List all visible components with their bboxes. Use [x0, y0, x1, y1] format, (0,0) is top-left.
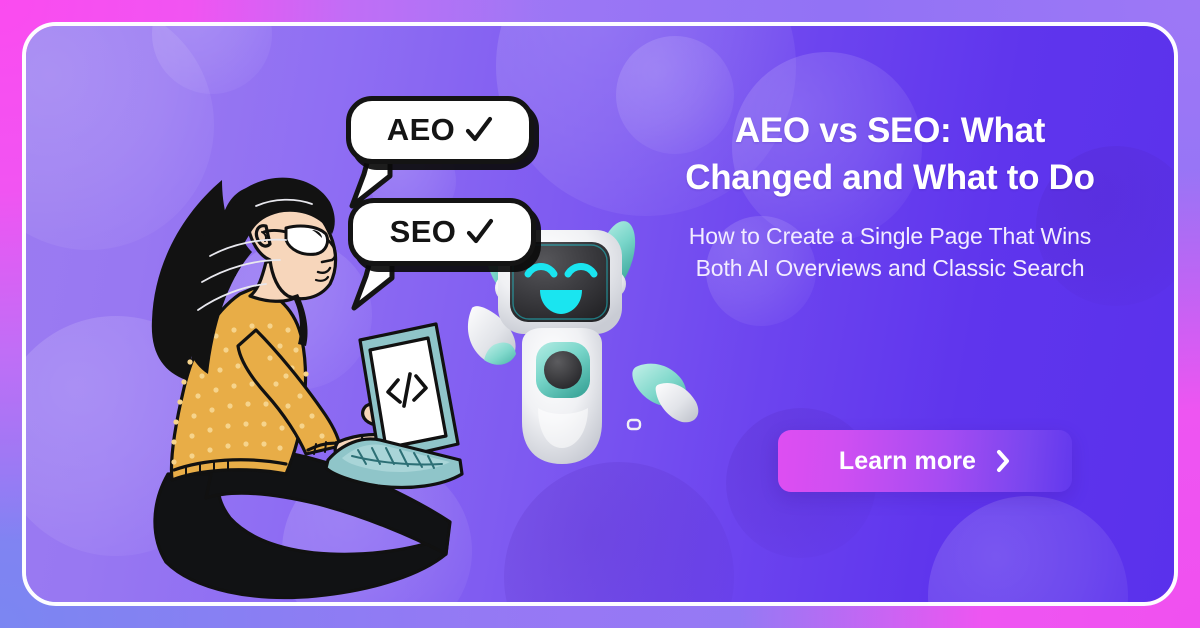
speech-bubble-label: SEO — [390, 214, 457, 250]
speech-bubble-seo: SEO — [348, 198, 536, 266]
check-mark-icon — [466, 218, 494, 246]
chevron-right-icon — [996, 449, 1011, 473]
check-mark-icon — [465, 116, 493, 144]
decorative-bubble — [152, 26, 272, 94]
banner-subheadline: How to Create a Single Page That Wins Bo… — [680, 221, 1100, 284]
learn-more-button[interactable]: Learn more — [778, 430, 1072, 492]
text-column: AEO vs SEO: What Changed and What to Do … — [680, 108, 1100, 285]
banner-root: AEO SEO AEO vs SEO: What Changed and Wha… — [0, 0, 1200, 628]
speech-bubble-aeo: AEO — [346, 96, 534, 164]
learn-more-label: Learn more — [839, 447, 976, 476]
banner-headline: AEO vs SEO: What Changed and What to Do — [680, 108, 1100, 201]
cta-container: Learn more — [778, 430, 1072, 492]
decorative-bubble — [928, 496, 1128, 602]
speech-bubble-label: AEO — [387, 112, 455, 148]
